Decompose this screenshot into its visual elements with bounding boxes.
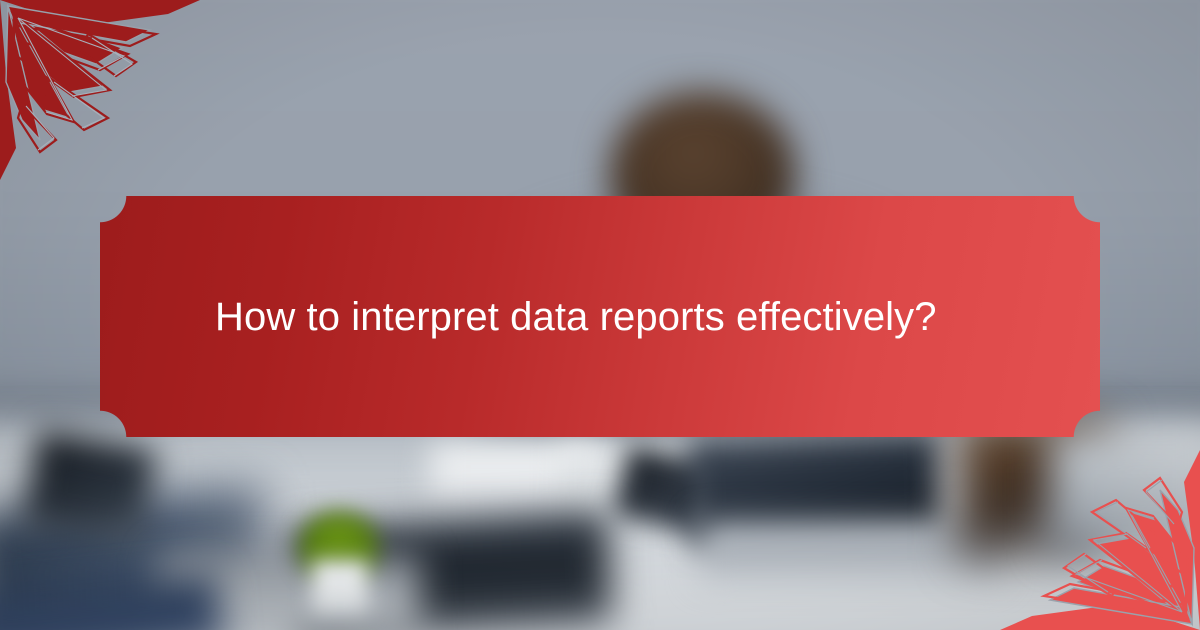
share-card-canvas: How to interpret data reports effectivel… — [0, 0, 1200, 630]
title-banner: How to interpret data reports effectivel… — [100, 196, 1100, 437]
banner-content: How to interpret data reports effectivel… — [100, 196, 1100, 437]
page-title: How to interpret data reports effectivel… — [215, 293, 937, 341]
